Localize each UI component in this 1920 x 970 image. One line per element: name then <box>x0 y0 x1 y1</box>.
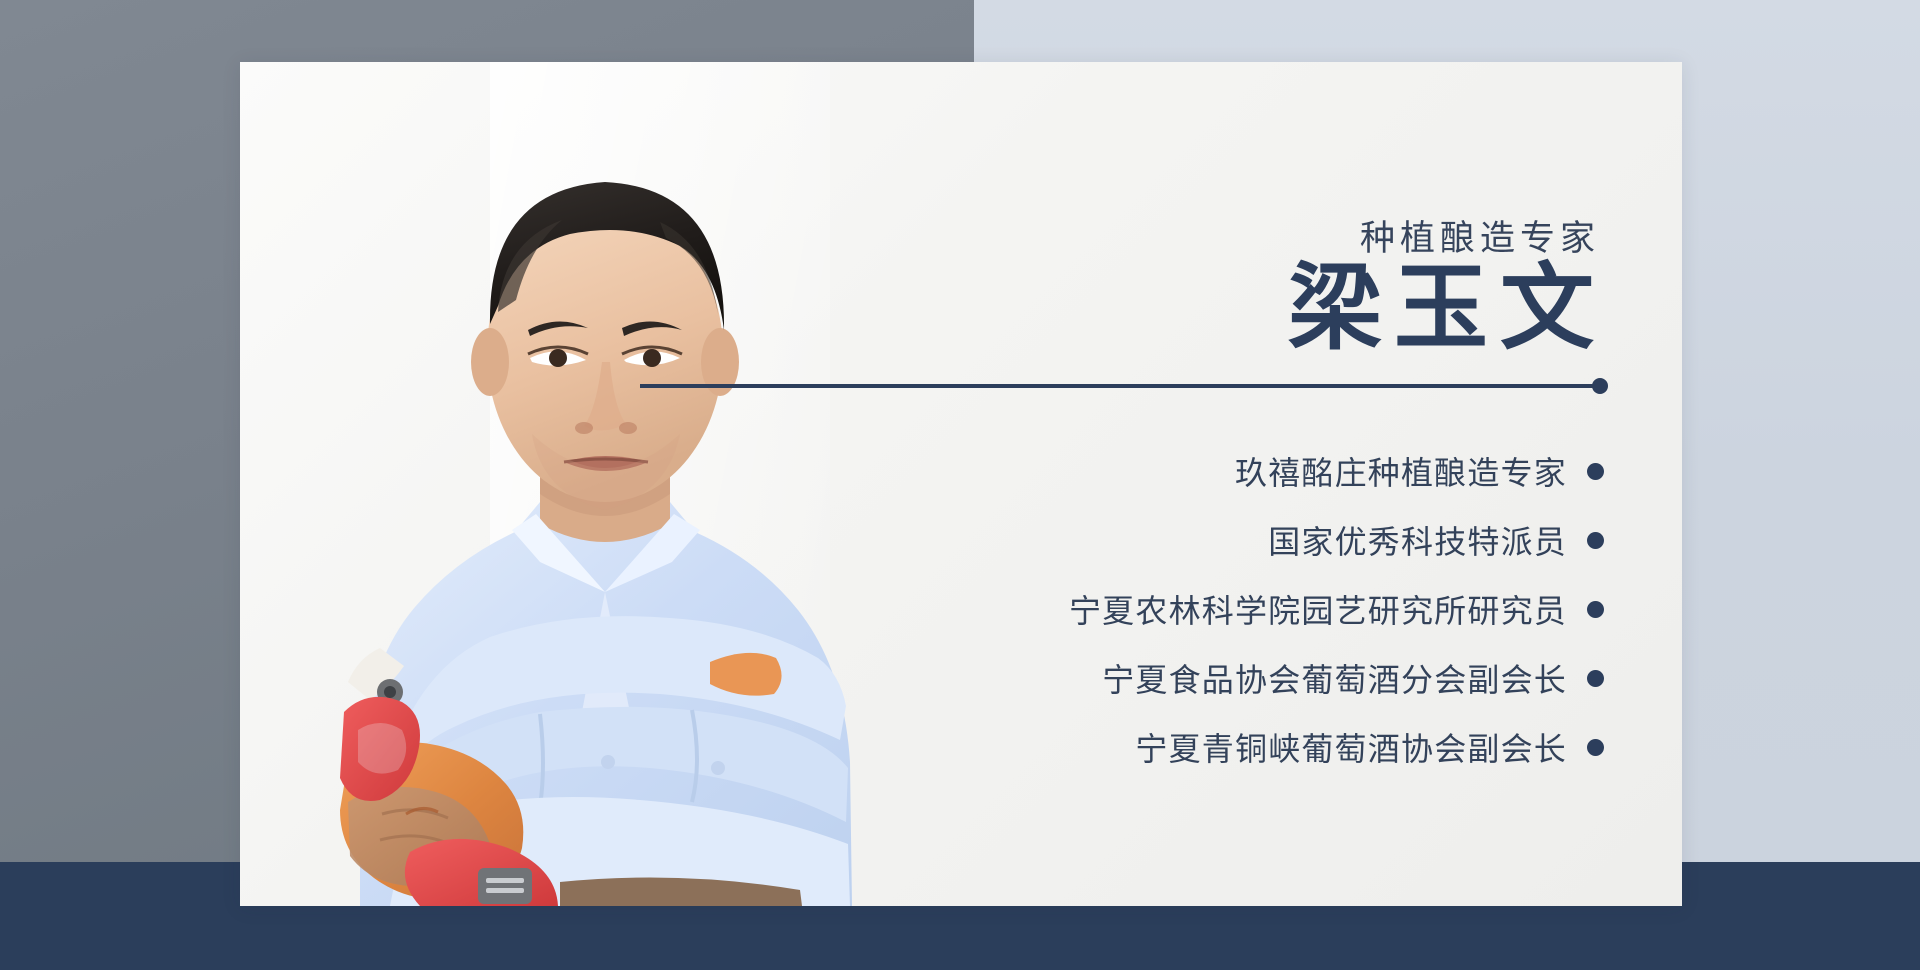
list-item: 宁夏食品协会葡萄酒分会副会长 <box>804 651 1604 705</box>
list-item: 宁夏青铜峡葡萄酒协会副会长 <box>804 720 1604 774</box>
profile-card: 种植酿造专家 梁玉文 玖禧酩庄种植酿造专家 国家优秀科技特派员 宁夏农林科学院园… <box>240 62 1682 906</box>
profile-banner: 种植酿造专家 梁玉文 玖禧酩庄种植酿造专家 国家优秀科技特派员 宁夏农林科学院园… <box>0 0 1920 970</box>
divider-end-dot <box>1592 378 1608 394</box>
credential-label: 玖禧酩庄种植酿造专家 <box>1235 448 1567 494</box>
credential-label: 国家优秀科技特派员 <box>1268 517 1567 563</box>
bullet-dot-icon <box>1587 532 1604 549</box>
person-name: 梁玉文 <box>1288 254 1606 365</box>
credential-label: 宁夏食品协会葡萄酒分会副会长 <box>1102 655 1567 701</box>
bullet-dot-icon <box>1587 670 1604 687</box>
credentials-list: 玖禧酩庄种植酿造专家 国家优秀科技特派员 宁夏农林科学院园艺研究所研究员 宁夏食… <box>804 444 1604 789</box>
list-item: 玖禧酩庄种植酿造专家 <box>804 444 1604 498</box>
list-item: 国家优秀科技特派员 <box>804 513 1604 567</box>
list-item: 宁夏农林科学院园艺研究所研究员 <box>804 582 1604 636</box>
credential-label: 宁夏农林科学院园艺研究所研究员 <box>1069 586 1567 632</box>
credential-label: 宁夏青铜峡葡萄酒协会副会长 <box>1135 724 1567 770</box>
divider-line <box>640 384 1602 388</box>
bullet-dot-icon <box>1587 601 1604 618</box>
bullet-dot-icon <box>1587 463 1604 480</box>
bullet-dot-icon <box>1587 739 1604 756</box>
